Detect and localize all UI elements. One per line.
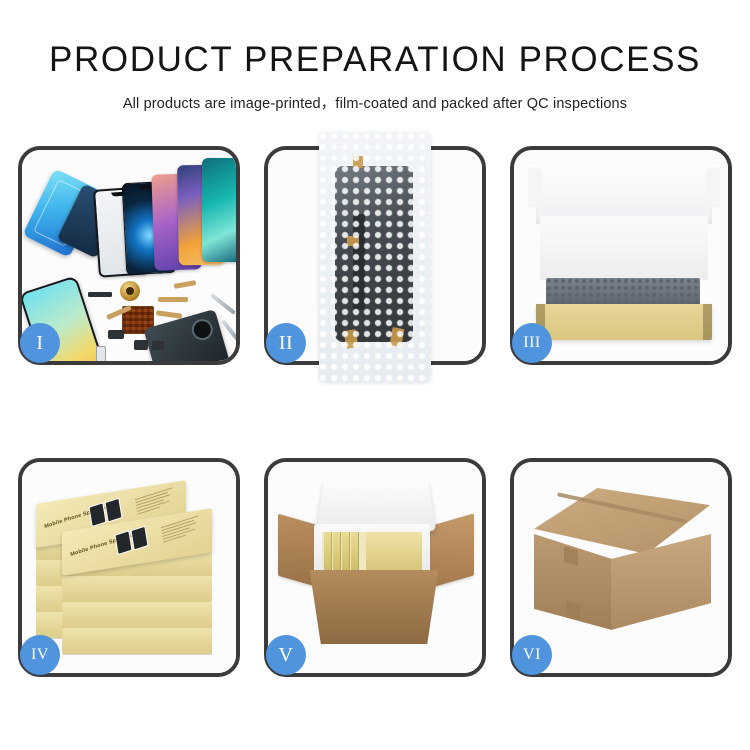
step-panel-6: VI — [510, 458, 732, 677]
step-panel-5: V — [264, 458, 486, 677]
white-foam-sheet-icon — [540, 216, 708, 280]
step-panel-2: II — [264, 146, 486, 365]
step-badge-5: V — [266, 635, 306, 675]
step-panel-1: I — [18, 146, 240, 365]
step-badge-4: IV — [20, 635, 60, 675]
step-panel-3: III — [510, 146, 732, 365]
step-badge-1: I — [20, 323, 60, 363]
step-panel-4: Mobile Phone Spare Parts Mobile Phone Sp… — [18, 458, 240, 677]
camera-module-icon — [134, 340, 148, 350]
step-badge-3: III — [512, 323, 552, 363]
flex-cable-icon — [158, 297, 188, 302]
speaker-coil-icon — [120, 281, 140, 301]
steps-grid: I II III — [18, 146, 738, 677]
carton-body-icon — [304, 570, 444, 644]
phone-screen-teal-icon — [202, 158, 236, 262]
connector-icon — [108, 330, 124, 339]
kraft-box-base-icon — [536, 304, 712, 340]
small-part-icon — [96, 346, 106, 361]
step-badge-6: VI — [512, 635, 552, 675]
yellow-boxes-inside-icon — [322, 532, 422, 572]
flex-cable-icon — [156, 310, 182, 319]
header: PRODUCT PREPARATION PROCESS All products… — [0, 0, 750, 113]
bubble-wrap-icon — [319, 132, 431, 382]
phone-backplate-icon — [143, 309, 230, 361]
flex-cable-icon — [174, 280, 197, 289]
page-title: PRODUCT PREPARATION PROCESS — [0, 42, 750, 79]
product-preparation-infographic: PRODUCT PREPARATION PROCESS All products… — [0, 0, 750, 750]
step-badge-2: II — [266, 323, 306, 363]
screwdriver-icon — [221, 319, 236, 340]
sim-tray-icon — [152, 341, 164, 350]
chip-icon — [88, 292, 112, 297]
page-subtitle: All products are image-printed，film-coat… — [0, 92, 750, 113]
bubble-texture — [319, 132, 431, 382]
